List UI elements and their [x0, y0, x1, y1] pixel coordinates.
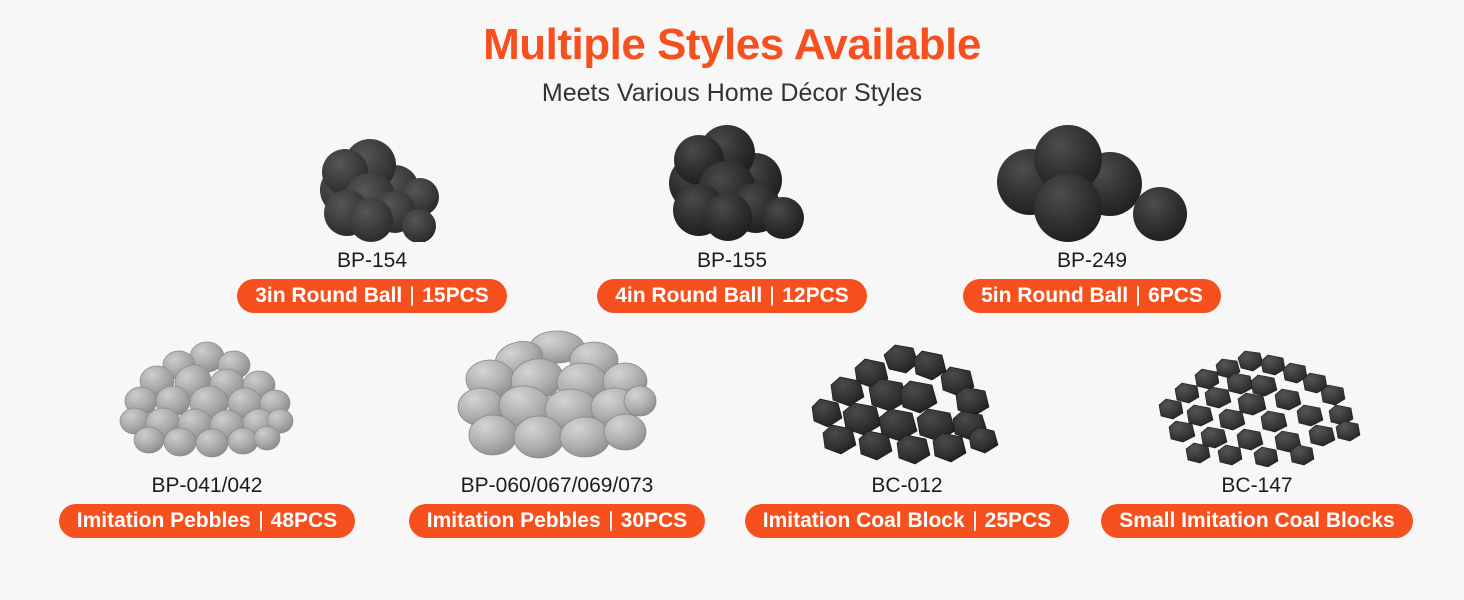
badge-quantity: 48PCS: [271, 510, 338, 531]
product-badge: 5in Round Ball 6PCS: [963, 279, 1221, 313]
product-card-bp-154[interactable]: BP-154 3in Round Ball 15PCS: [192, 122, 552, 313]
badge-label: 3in Round Ball: [255, 285, 402, 306]
product-row-pebbles-and-coal: BP-041/042 Imitation Pebbles 48PCS: [0, 327, 1464, 538]
product-card-bp-155[interactable]: BP-155 4in Round Ball 12PCS: [552, 122, 912, 313]
product-card-bp-060-067-069-073[interactable]: BP-060/067/069/073 Imitation Pebbles 30P…: [382, 327, 732, 538]
badge-separator: [771, 286, 773, 306]
product-code: BP-154: [337, 249, 407, 272]
product-code: BC-147: [1221, 474, 1292, 497]
badge-quantity: 30PCS: [621, 510, 688, 531]
header: Multiple Styles Available Meets Various …: [0, 0, 1464, 108]
pebble-pile-large-icon: [457, 327, 657, 467]
product-card-bp-041-042[interactable]: BP-041/042 Imitation Pebbles 48PCS: [32, 327, 382, 538]
product-code: BC-012: [871, 474, 942, 497]
product-code: BP-060/067/069/073: [461, 474, 654, 497]
product-card-bp-249[interactable]: BP-249 5in Round Ball 6PCS: [912, 122, 1272, 313]
badge-separator: [1137, 286, 1139, 306]
badge-quantity: 12PCS: [782, 285, 849, 306]
product-code: BP-155: [697, 249, 767, 272]
product-badge: Small Imitation Coal Blocks: [1101, 504, 1412, 538]
badge-separator: [411, 286, 413, 306]
badge-label: Imitation Coal Block: [763, 510, 965, 531]
pebble-pile-small-icon: [117, 327, 297, 467]
page-title: Multiple Styles Available: [0, 22, 1464, 68]
product-card-bc-012[interactable]: BC-012 Imitation Coal Block 25PCS: [732, 327, 1082, 538]
small-coal-block-pile-icon: [1150, 327, 1365, 467]
product-badge: Imitation Pebbles 48PCS: [59, 504, 355, 538]
round-ball-pile-large-icon: [992, 122, 1192, 242]
product-code: BP-249: [1057, 249, 1127, 272]
coal-block-pile-icon: [810, 327, 1005, 467]
product-badge: Imitation Coal Block 25PCS: [745, 504, 1069, 538]
product-card-bc-147[interactable]: BC-147 Small Imitation Coal Blocks: [1082, 327, 1432, 538]
product-badge: 4in Round Ball 12PCS: [597, 279, 867, 313]
product-code: BP-041/042: [152, 474, 263, 497]
page-subtitle: Meets Various Home Décor Styles: [0, 80, 1464, 108]
badge-label: Imitation Pebbles: [77, 510, 251, 531]
badge-separator: [260, 511, 262, 531]
badge-quantity: 15PCS: [422, 285, 489, 306]
badge-label: Imitation Pebbles: [427, 510, 601, 531]
product-badge: Imitation Pebbles 30PCS: [409, 504, 705, 538]
product-row-round-balls: BP-154 3in Round Ball 15PCS: [0, 122, 1464, 313]
round-ball-pile-small-icon: [302, 122, 442, 242]
badge-quantity: 25PCS: [985, 510, 1052, 531]
badge-label: 4in Round Ball: [615, 285, 762, 306]
badge-label: 5in Round Ball: [981, 285, 1128, 306]
badge-separator: [974, 511, 976, 531]
product-badge: 3in Round Ball 15PCS: [237, 279, 507, 313]
badge-quantity: 6PCS: [1148, 285, 1203, 306]
round-ball-pile-medium-icon: [657, 122, 807, 242]
badge-separator: [610, 511, 612, 531]
badge-label: Small Imitation Coal Blocks: [1119, 510, 1394, 531]
